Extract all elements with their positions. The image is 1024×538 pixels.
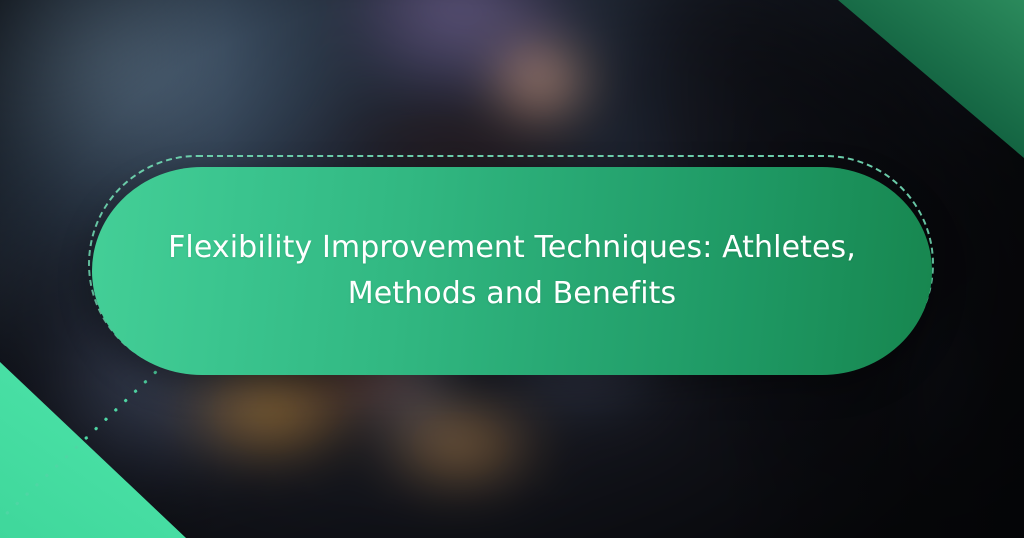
page-title: Flexibility Improvement Techniques: Athl…: [162, 225, 862, 316]
hero-banner: Flexibility Improvement Techniques: Athl…: [0, 0, 1024, 538]
title-card: Flexibility Improvement Techniques: Athl…: [92, 167, 932, 375]
